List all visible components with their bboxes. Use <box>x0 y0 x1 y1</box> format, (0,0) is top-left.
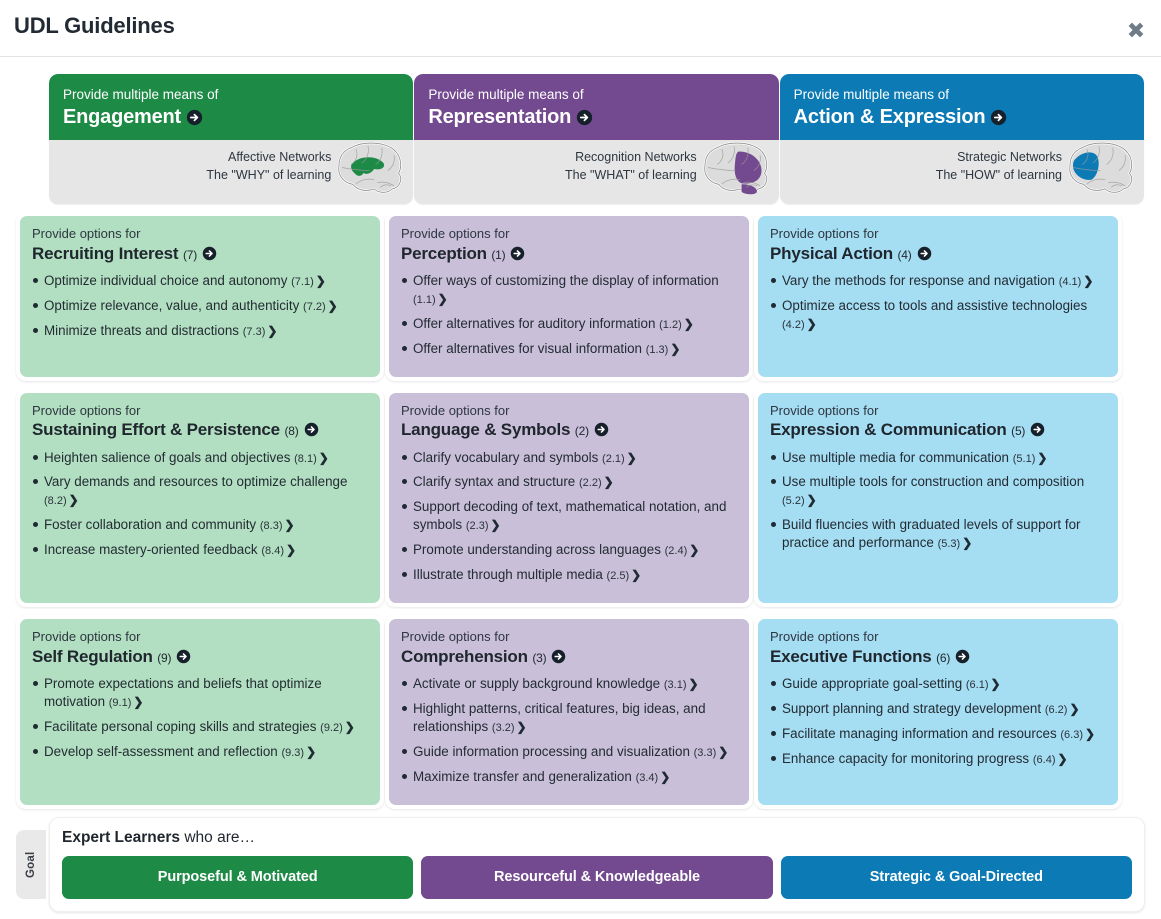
guideline-title-text: Language & Symbols <box>401 420 570 439</box>
checkpoint-number: (4.2) <box>782 319 805 331</box>
expert-learner-button-2[interactable]: Resourceful & Knowledgeable <box>421 856 772 899</box>
guideline-card-frame: Provide options forExpression & Communic… <box>754 389 1122 608</box>
chevron-right-icon[interactable]: ❯ <box>962 536 972 550</box>
principle-network-name: Recognition Networks <box>565 149 697 167</box>
guideline-number: (3) <box>532 651 546 665</box>
principle-card-footer: Strategic NetworksThe "HOW" of learning <box>780 140 1144 196</box>
guideline-title-text: Executive Functions <box>770 647 932 666</box>
guideline-title-text: Sustaining Effort & Persistence <box>32 420 280 439</box>
guideline-title-text: Expression & Communication <box>770 420 1007 439</box>
row-label-goal-text: Goal <box>16 830 46 899</box>
principle-name-text: Action & Expression <box>794 106 986 128</box>
checkpoint-item[interactable]: Use multiple tools for construction and … <box>770 473 1106 509</box>
checkpoint-text: Clarify vocabulary and symbols <box>413 450 598 465</box>
checkpoint-text: Promote understanding across languages <box>413 542 661 557</box>
checkpoint-number: (6.1) <box>966 679 989 691</box>
principle-card-footer: Recognition NetworksThe "WHAT" of learni… <box>414 140 778 196</box>
circle-arrow-right-icon <box>955 649 970 664</box>
checkpoint-number: (2.5) <box>607 570 630 582</box>
guideline-card-frame: Provide options forPerception (1)Offer w… <box>385 212 753 381</box>
principle-card-footer: Affective NetworksThe "WHY" of learning <box>49 140 413 196</box>
chevron-right-icon[interactable]: ❯ <box>316 274 326 288</box>
checkpoint-item[interactable]: Build fluencies with graduated levels of… <box>770 516 1106 552</box>
circle-arrow-right-icon <box>594 422 609 437</box>
checkpoint-text: Vary demands and resources to optimize c… <box>44 474 347 489</box>
guideline-card[interactable]: Provide options forSustaining Effort & P… <box>20 393 380 604</box>
guideline-card[interactable]: Provide options forPhysical Action (4)Va… <box>758 216 1118 377</box>
checkpoint-text: Highlight patterns, critical features, b… <box>413 701 706 734</box>
checkpoint-number: (8.2) <box>44 495 67 507</box>
checkpoint-text: Support decoding of text, mathematical n… <box>413 499 726 532</box>
chevron-right-icon[interactable]: ❯ <box>286 543 296 557</box>
expert-learner-button-label: Purposeful & Motivated <box>158 869 318 885</box>
principle-network-question: The "WHAT" of learning <box>565 167 697 185</box>
expert-learner-button-3[interactable]: Strategic & Goal-Directed <box>781 856 1132 899</box>
guideline-eyebrow: Provide options for <box>770 629 1106 645</box>
principle-name[interactable]: Representation <box>428 105 764 130</box>
guideline-eyebrow: Provide options for <box>770 226 1106 242</box>
principle-card-header: Provide multiple means ofEngagement <box>49 74 413 140</box>
brain-icon <box>1060 140 1138 195</box>
guideline-card-container: Provide options forRecruiting Interest (… <box>16 212 384 381</box>
checkpoint-list: Offer ways of customizing the display of… <box>401 272 737 358</box>
checkpoint-number: (7.2) <box>303 301 326 313</box>
guideline-eyebrow: Provide options for <box>770 403 1106 419</box>
chevron-right-icon[interactable]: ❯ <box>991 677 1001 691</box>
checkpoint-item[interactable]: Increase mastery-oriented feedback (8.4)… <box>32 541 368 559</box>
checkpoint-number: (1.3) <box>646 344 669 356</box>
guideline-card[interactable]: Provide options forLanguage & Symbols (2… <box>389 393 749 604</box>
principle-network-name: Strategic Networks <box>936 149 1062 167</box>
principles-row: Provide multiple means ofEngagementAffec… <box>16 74 1145 204</box>
principle-name[interactable]: Engagement <box>63 105 399 130</box>
guideline-title[interactable]: Expression & Communication (5) <box>770 419 1106 440</box>
checkpoint-number: (3.2) <box>492 722 515 734</box>
checkpoint-list: Guide appropriate goal-setting (6.1)❯Sup… <box>770 675 1106 768</box>
chevron-right-icon[interactable]: ❯ <box>1037 451 1047 465</box>
checkpoint-text: Facilitate personal coping skills and st… <box>44 719 316 734</box>
checkpoint-item[interactable]: Facilitate managing information and reso… <box>770 725 1106 743</box>
checkpoint-item[interactable]: Use multiple media for communication (5.… <box>770 449 1106 467</box>
principle-network-question: The "WHY" of learning <box>206 167 331 185</box>
guideline-card-frame: Provide options forSelf Regulation (9)Pr… <box>16 615 384 809</box>
circle-arrow-right-icon <box>576 109 593 126</box>
checkpoint-text: Facilitate managing information and reso… <box>782 726 1057 741</box>
guideline-card[interactable]: Provide options forExecutive Functions (… <box>758 619 1118 805</box>
checkpoint-number: (9.1) <box>109 697 132 709</box>
checkpoint-list: Vary the methods for response and naviga… <box>770 272 1106 333</box>
chevron-right-icon[interactable]: ❯ <box>1069 702 1079 716</box>
checkpoint-list: Activate or supply background knowledge … <box>401 675 737 786</box>
checkpoint-number: (3.1) <box>664 679 687 691</box>
window-title-bar: UDL Guidelines ✖ <box>0 0 1161 57</box>
chevron-right-icon[interactable]: ❯ <box>689 543 699 557</box>
circle-arrow-right-icon <box>1030 422 1045 437</box>
circle-arrow-right-icon <box>304 422 319 437</box>
chevron-right-icon[interactable]: ❯ <box>345 720 355 734</box>
expert-learners-heading: Expert Learners who are… <box>62 829 1132 847</box>
checkpoint-item[interactable]: Clarify vocabulary and symbols (2.1)❯ <box>401 449 737 467</box>
checkpoint-number: (7.3) <box>243 326 266 338</box>
checkpoint-number: (6.2) <box>1045 704 1068 716</box>
checkpoint-text: Optimize individual choice and autonomy <box>44 273 287 288</box>
guideline-title-text: Self Regulation <box>32 647 153 666</box>
checkpoint-item[interactable]: Promote expectations and beliefs that op… <box>32 675 368 711</box>
chevron-right-icon[interactable]: ❯ <box>1083 274 1093 288</box>
udl-guidelines-board: Provide multiple means ofEngagementAffec… <box>0 57 1161 919</box>
principle-network-name: Affective Networks <box>206 149 331 167</box>
guideline-card-container: Provide options forPerception (1)Offer w… <box>385 212 753 381</box>
guideline-card-container: Provide options forLanguage & Symbols (2… <box>385 389 753 608</box>
circle-arrow-right-icon <box>917 246 932 261</box>
guideline-title-text: Physical Action <box>770 244 893 263</box>
principle-card-header: Provide multiple means ofRepresentation <box>414 74 778 140</box>
principle-card[interactable]: Provide multiple means ofAction & Expres… <box>780 74 1144 204</box>
guideline-number: (9) <box>157 651 171 665</box>
guideline-card-frame: Provide options forComprehension (3)Acti… <box>385 615 753 809</box>
chevron-right-icon[interactable]: ❯ <box>517 720 527 734</box>
chevron-right-icon[interactable]: ❯ <box>660 770 670 784</box>
checkpoint-item[interactable]: Clarify syntax and structure (2.2)❯ <box>401 473 737 491</box>
checkpoint-item[interactable]: Heighten salience of goals and objective… <box>32 449 368 467</box>
principle-name-text: Engagement <box>63 106 181 128</box>
checkpoint-item[interactable]: Support decoding of text, mathematical n… <box>401 498 737 534</box>
guideline-card[interactable]: Provide options forSelf Regulation (9)Pr… <box>20 619 380 805</box>
checkpoint-text: Offer ways of customizing the display of… <box>413 273 719 288</box>
guideline-number: (2) <box>575 424 589 438</box>
checkpoint-number: (8.1) <box>294 453 317 465</box>
checkpoint-text: Maximize transfer and generalization <box>413 769 632 784</box>
guideline-number: (4) <box>898 248 912 262</box>
guideline-eyebrow: Provide options for <box>32 629 368 645</box>
chevron-right-icon[interactable]: ❯ <box>284 518 294 532</box>
checkpoint-item[interactable]: Foster collaboration and community (8.3)… <box>32 516 368 534</box>
checkpoint-text: Use multiple media for communication <box>782 450 1009 465</box>
checkpoint-number: (9.2) <box>320 722 343 734</box>
checkpoint-item[interactable]: Offer alternatives for visual informatio… <box>401 340 737 358</box>
principle-name-text: Representation <box>428 106 571 128</box>
principle-card[interactable]: Provide multiple means ofEngagementAffec… <box>49 74 413 204</box>
expert-learners-rest: who are… <box>180 829 255 846</box>
checkpoint-text: Optimize relevance, value, and authentic… <box>44 298 299 313</box>
expert-learners-bold: Expert Learners <box>62 829 180 846</box>
expert-learner-button-label: Strategic & Goal-Directed <box>870 869 1043 885</box>
brain-icon <box>329 140 407 195</box>
circle-arrow-right-icon <box>186 109 203 126</box>
guideline-card-frame: Provide options forSustaining Effort & P… <box>16 389 384 608</box>
circle-arrow-right-icon <box>990 109 1007 126</box>
chevron-right-icon[interactable]: ❯ <box>69 493 79 507</box>
expert-learner-buttons: Purposeful & MotivatedResourceful & Know… <box>62 856 1132 899</box>
guideline-eyebrow: Provide options for <box>401 403 737 419</box>
chevron-right-icon[interactable]: ❯ <box>670 342 680 356</box>
guideline-title[interactable]: Physical Action (4) <box>770 243 1106 264</box>
checkpoint-text: Support planning and strategy developmen… <box>782 701 1041 716</box>
chevron-right-icon[interactable]: ❯ <box>684 317 694 331</box>
expert-learner-button-label: Resourceful & Knowledgeable <box>494 869 700 885</box>
chevron-right-icon[interactable]: ❯ <box>689 677 699 691</box>
guideline-card-frame: Provide options forExecutive Functions (… <box>754 615 1122 809</box>
principle-eyebrow: Provide multiple means of <box>794 87 1130 104</box>
guideline-eyebrow: Provide options for <box>32 226 368 242</box>
checkpoint-list: Clarify vocabulary and symbols (2.1)❯Cla… <box>401 449 737 585</box>
checkpoint-item[interactable]: Vary the methods for response and naviga… <box>770 272 1106 290</box>
checkpoint-list: Promote expectations and beliefs that op… <box>32 675 368 761</box>
checkpoint-list: Optimize individual choice and autonomy … <box>32 272 368 340</box>
checkpoint-text: Guide information processing and visuali… <box>413 744 690 759</box>
chevron-right-icon[interactable]: ❯ <box>133 695 143 709</box>
chevron-right-icon[interactable]: ❯ <box>1057 752 1067 766</box>
checkpoint-number: (1.2) <box>659 319 682 331</box>
checkpoint-text: Clarify syntax and structure <box>413 474 575 489</box>
guideline-rows: AccessProvide options forRecruiting Inte… <box>16 212 1145 809</box>
chevron-right-icon[interactable]: ❯ <box>1085 727 1095 741</box>
page-title: UDL Guidelines <box>14 13 175 39</box>
checkpoint-number: (3.3) <box>694 747 717 759</box>
guideline-card-frame: Provide options forRecruiting Interest (… <box>16 212 384 381</box>
checkpoint-text: Offer alternatives for auditory informat… <box>413 316 655 331</box>
checkpoint-number: (2.1) <box>602 453 625 465</box>
checkpoint-item[interactable]: Guide appropriate goal-setting (6.1)❯ <box>770 675 1106 693</box>
checkpoint-item[interactable]: Highlight patterns, critical features, b… <box>401 700 737 736</box>
checkpoint-number: (7.1) <box>291 276 314 288</box>
guideline-card-container: Provide options forSustaining Effort & P… <box>16 389 384 608</box>
principle-network: Strategic NetworksThe "HOW" of learning <box>936 149 1062 185</box>
checkpoint-item[interactable]: Develop self-assessment and reflection (… <box>32 743 368 761</box>
guideline-card[interactable]: Provide options forPerception (1)Offer w… <box>389 216 749 377</box>
circle-arrow-right-icon <box>551 649 566 664</box>
chevron-right-icon[interactable]: ❯ <box>438 292 448 306</box>
checkpoint-number: (1.1) <box>413 294 436 306</box>
guideline-title-text: Perception <box>401 244 487 263</box>
checkpoint-number: (2.4) <box>665 545 688 557</box>
checkpoint-item[interactable]: Facilitate personal coping skills and st… <box>32 718 368 736</box>
checkpoint-number: (6.4) <box>1033 754 1056 766</box>
checkpoint-number: (4.1) <box>1059 276 1082 288</box>
principle-eyebrow: Provide multiple means of <box>63 87 399 104</box>
checkpoint-item[interactable]: Promote understanding across languages (… <box>401 541 737 559</box>
checkpoint-text: Optimize access to tools and assistive t… <box>782 298 1087 313</box>
checkpoint-number: (2.3) <box>466 520 489 532</box>
guideline-card-container: Provide options forPhysical Action (4)Va… <box>754 212 1122 381</box>
checkpoint-text: Activate or supply background knowledge <box>413 676 660 691</box>
guideline-title[interactable]: Language & Symbols (2) <box>401 419 737 440</box>
checkpoint-item[interactable]: Support planning and strategy developmen… <box>770 700 1106 718</box>
row-label-goal: Goal <box>16 830 46 899</box>
checkpoint-text: Enhance capacity for monitoring progress <box>782 751 1029 766</box>
checkpoint-list: Use multiple media for communication (5.… <box>770 449 1106 553</box>
guideline-card[interactable]: Provide options forComprehension (3)Acti… <box>389 619 749 805</box>
chevron-right-icon[interactable]: ❯ <box>807 493 817 507</box>
principle-card-3: Provide multiple means ofAction & Expres… <box>780 74 1144 204</box>
guideline-number: (6) <box>936 651 950 665</box>
chevron-right-icon[interactable]: ❯ <box>627 451 637 465</box>
chevron-right-icon[interactable]: ❯ <box>306 745 316 759</box>
guideline-card-frame: Provide options forPhysical Action (4)Va… <box>754 212 1122 381</box>
principle-eyebrow: Provide multiple means of <box>428 87 764 104</box>
principle-card-2: Provide multiple means ofRepresentationR… <box>414 74 778 204</box>
checkpoint-number: (8.3) <box>260 520 283 532</box>
chevron-right-icon[interactable]: ❯ <box>807 317 817 331</box>
guideline-card[interactable]: Provide options forRecruiting Interest (… <box>20 216 380 377</box>
guideline-row-internalize: InternalizeProvide options forSelf Regul… <box>16 615 1145 809</box>
guideline-title[interactable]: Comprehension (3) <box>401 646 737 667</box>
checkpoint-text: Minimize threats and distractions <box>44 323 239 338</box>
checkpoint-number: (9.3) <box>281 747 304 759</box>
chevron-right-icon[interactable]: ❯ <box>319 451 329 465</box>
principle-card-header: Provide multiple means ofAction & Expres… <box>780 74 1144 140</box>
guideline-eyebrow: Provide options for <box>401 629 737 645</box>
checkpoint-item[interactable]: Vary demands and resources to optimize c… <box>32 473 368 509</box>
checkpoint-text: Build fluencies with graduated levels of… <box>782 517 1081 550</box>
checkpoint-item[interactable]: Minimize threats and distractions (7.3)❯ <box>32 322 368 340</box>
guideline-title-text: Recruiting Interest <box>32 244 178 263</box>
guideline-title[interactable]: Self Regulation (9) <box>32 646 368 667</box>
principle-network-question: The "HOW" of learning <box>936 167 1062 185</box>
checkpoint-text: Promote expectations and beliefs that op… <box>44 676 322 709</box>
close-icon[interactable]: ✖ <box>1122 18 1150 46</box>
guideline-card-container: Provide options forExpression & Communic… <box>754 389 1122 608</box>
chevron-right-icon[interactable]: ❯ <box>604 475 614 489</box>
circle-arrow-right-icon <box>176 649 191 664</box>
guideline-eyebrow: Provide options for <box>401 226 737 242</box>
checkpoint-number: (5.1) <box>1013 453 1036 465</box>
chevron-right-icon[interactable]: ❯ <box>490 518 500 532</box>
principle-card[interactable]: Provide multiple means ofRepresentationR… <box>414 74 778 204</box>
circle-arrow-right-icon <box>510 246 525 261</box>
principle-card-1: Provide multiple means ofEngagementAffec… <box>49 74 413 204</box>
guideline-title-text: Comprehension <box>401 647 528 666</box>
guideline-title[interactable]: Executive Functions (6) <box>770 646 1106 667</box>
expert-learner-button-1[interactable]: Purposeful & Motivated <box>62 856 413 899</box>
checkpoint-number: (8.4) <box>261 545 284 557</box>
guideline-number: (1) <box>491 248 505 262</box>
guideline-row-build: BuildProvide options forSustaining Effor… <box>16 389 1145 608</box>
checkpoint-number: (5.2) <box>782 495 805 507</box>
guideline-number: (7) <box>183 248 197 262</box>
checkpoint-text: Increase mastery-oriented feedback <box>44 542 258 557</box>
checkpoint-item[interactable]: Optimize individual choice and autonomy … <box>32 272 368 290</box>
chevron-right-icon[interactable]: ❯ <box>631 568 641 582</box>
chevron-right-icon[interactable]: ❯ <box>267 324 277 338</box>
checkpoint-number: (5.3) <box>938 538 961 550</box>
guideline-number: (5) <box>1011 424 1025 438</box>
goal-row: Goal Expert Learners who are… Purposeful… <box>16 817 1145 912</box>
checkpoint-item[interactable]: Activate or supply background knowledge … <box>401 675 737 693</box>
expert-learners-panel: Expert Learners who are… Purposeful & Mo… <box>49 817 1145 912</box>
checkpoint-text: Vary the methods for response and naviga… <box>782 273 1055 288</box>
checkpoint-item[interactable]: Optimize access to tools and assistive t… <box>770 297 1106 333</box>
checkpoint-item[interactable]: Enhance capacity for monitoring progress… <box>770 750 1106 768</box>
checkpoint-item[interactable]: Offer alternatives for auditory informat… <box>401 315 737 333</box>
guideline-card-container: Provide options forComprehension (3)Acti… <box>385 615 753 809</box>
checkpoint-text: Illustrate through multiple media <box>413 567 603 582</box>
guideline-card-frame: Provide options forLanguage & Symbols (2… <box>385 389 753 608</box>
checkpoint-number: (2.2) <box>579 477 602 489</box>
guideline-title[interactable]: Recruiting Interest (7) <box>32 243 368 264</box>
principle-network: Affective NetworksThe "WHY" of learning <box>206 149 331 185</box>
guideline-row-access: AccessProvide options forRecruiting Inte… <box>16 212 1145 381</box>
brain-icon <box>695 140 773 195</box>
guideline-title[interactable]: Perception (1) <box>401 243 737 264</box>
checkpoint-text: Use multiple tools for construction and … <box>782 474 1084 489</box>
checkpoint-item[interactable]: Optimize relevance, value, and authentic… <box>32 297 368 315</box>
chevron-right-icon[interactable]: ❯ <box>718 745 728 759</box>
chevron-right-icon[interactable]: ❯ <box>328 299 338 313</box>
guideline-card-container: Provide options forSelf Regulation (9)Pr… <box>16 615 384 809</box>
principle-network: Recognition NetworksThe "WHAT" of learni… <box>565 149 697 185</box>
checkpoint-text: Guide appropriate goal-setting <box>782 676 962 691</box>
checkpoint-item[interactable]: Guide information processing and visuali… <box>401 743 737 761</box>
checkpoint-text: Heighten salience of goals and objective… <box>44 450 290 465</box>
checkpoint-text: Offer alternatives for visual informatio… <box>413 341 642 356</box>
guideline-number: (8) <box>284 424 298 438</box>
guideline-title[interactable]: Sustaining Effort & Persistence (8) <box>32 419 368 440</box>
guideline-card[interactable]: Provide options forExpression & Communic… <box>758 393 1118 604</box>
checkpoint-text: Foster collaboration and community <box>44 517 256 532</box>
guideline-eyebrow: Provide options for <box>32 403 368 419</box>
circle-arrow-right-icon <box>202 246 217 261</box>
checkpoint-item[interactable]: Offer ways of customizing the display of… <box>401 272 737 308</box>
checkpoint-number: (3.4) <box>636 772 659 784</box>
guideline-card-container: Provide options forExecutive Functions (… <box>754 615 1122 809</box>
checkpoint-item[interactable]: Illustrate through multiple media (2.5)❯ <box>401 566 737 584</box>
principle-name[interactable]: Action & Expression <box>794 105 1130 130</box>
checkpoint-number: (6.3) <box>1060 729 1083 741</box>
checkpoint-text: Develop self-assessment and reflection <box>44 744 278 759</box>
checkpoint-list: Heighten salience of goals and objective… <box>32 449 368 560</box>
checkpoint-item[interactable]: Maximize transfer and generalization (3.… <box>401 768 737 786</box>
